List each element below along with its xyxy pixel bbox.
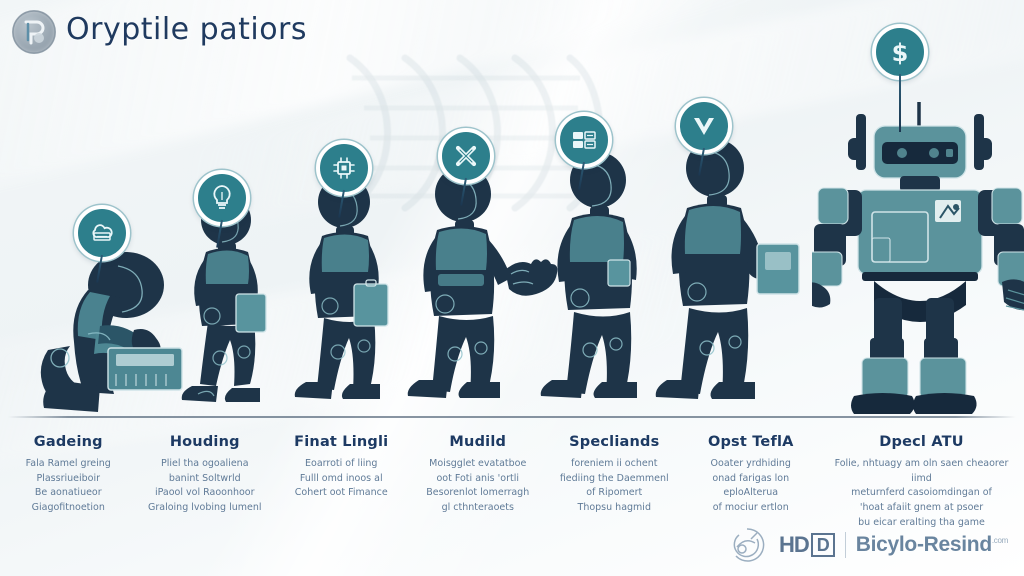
stage-bubble-cloud-server[interactable] bbox=[74, 205, 130, 261]
stage-body-line: meturnferd casoiomdingan of bbox=[825, 486, 1018, 501]
footer-wordmark-suffix: .com bbox=[992, 536, 1008, 545]
stage-title: Mudild bbox=[416, 434, 541, 450]
stage-bubble-dollar-sign[interactable]: $ bbox=[872, 24, 928, 80]
dollar-sign-icon: $ bbox=[888, 37, 912, 67]
stage-body-line: Graloing lvobing lumenl bbox=[143, 501, 268, 516]
stage-body: foreniem ii ochent fiediing the Daemmenl… bbox=[552, 457, 677, 516]
stage-title: Opst TeflA bbox=[689, 434, 814, 450]
stage-body-line: Besorenlot lomerragh bbox=[416, 486, 541, 501]
evolution-figure-row bbox=[0, 62, 1024, 420]
stage-title: Specliands bbox=[552, 434, 677, 450]
stage-body-line: fiediing the Daemmenl bbox=[552, 472, 677, 487]
stage-caption-5: Specliands foreniem ii ochent fiediing t… bbox=[546, 420, 683, 532]
circular-swirl-mark-icon bbox=[725, 525, 769, 565]
circular-badge-logo bbox=[12, 10, 56, 54]
crossed-tools-icon bbox=[452, 142, 480, 170]
stage-bubble-checkmark-v[interactable] bbox=[676, 98, 732, 154]
circuit-chip-icon bbox=[331, 155, 357, 181]
stage-figure-walking-case bbox=[288, 172, 418, 420]
stage-body-line: foreniem ii ochent bbox=[552, 457, 677, 472]
stage-body-line: Moisgglet evatatboe bbox=[416, 457, 541, 472]
bubble-tail bbox=[899, 74, 901, 132]
stage-caption-7: Dpecl ATU Folie, nhtuagy am oln saen che… bbox=[819, 420, 1024, 532]
stage-caption-6: Opst TeflA Ooater yrdhiding onad farigas… bbox=[683, 420, 820, 532]
stage-caption-1: Gadeing Fala Ramel greing Plassriueiboir… bbox=[0, 420, 137, 532]
cloud-server-icon bbox=[88, 221, 116, 245]
stage-title: Finat Lingli bbox=[279, 434, 404, 450]
robot-right-hand bbox=[1002, 279, 1024, 310]
stage-body-line: Fulll omd inoos al bbox=[279, 472, 404, 487]
page-title: Oryptile patiors bbox=[66, 12, 307, 47]
footer-hd-logo: HD D bbox=[779, 532, 835, 558]
stage-bubble-server-rack[interactable] bbox=[556, 112, 612, 168]
stage-body: Ooater yrdhiding onad farigas lon eploAl… bbox=[689, 457, 814, 516]
stage-body-line: Ooater yrdhiding bbox=[689, 457, 814, 472]
stage-body-line: banint Soltwrld bbox=[143, 472, 268, 487]
stage-figure-walking-tablet bbox=[168, 190, 298, 420]
footer-hd-label: HD bbox=[779, 532, 809, 558]
footer-wordmark: Bicylo-Resind.com bbox=[856, 533, 1008, 557]
stage-body-line: Thopsu hagmid bbox=[552, 501, 677, 516]
badge-glyph-icon bbox=[12, 10, 56, 54]
stage-body-line: Pliel tha ogoaliena bbox=[143, 457, 268, 472]
footer-hd-box: D bbox=[811, 533, 835, 557]
stage-figure-large-robot bbox=[812, 100, 1024, 420]
stage-body-line: Eoarroti of liing bbox=[279, 457, 404, 472]
header: Oryptile patiors bbox=[0, 0, 1024, 70]
svg-text:$: $ bbox=[892, 39, 909, 67]
footer-branding: HD D Bicylo-Resind.com bbox=[725, 522, 1008, 568]
stage-bubble-circuit-chip[interactable] bbox=[316, 140, 372, 196]
stage-body-line: of mociur ertlon bbox=[689, 501, 814, 516]
stage-body-line: gl cthnteraoets bbox=[416, 501, 541, 516]
footer-wordmark-text: Bicylo-Resind bbox=[856, 533, 992, 556]
stage-body-line: 'hoat afaiit gnem at psoer bbox=[825, 501, 1018, 516]
stage-title: Dpecl ATU bbox=[825, 434, 1018, 450]
server-rack-icon bbox=[570, 128, 598, 152]
infographic-canvas: Oryptile patiors bbox=[0, 0, 1024, 576]
stage-body: Fala Ramel greing Plassriueiboir Be aona… bbox=[6, 457, 131, 516]
stage-title: Gadeing bbox=[6, 434, 131, 450]
stage-body-line: Be aonatiueor bbox=[6, 486, 131, 501]
stage-captions-row: Gadeing Fala Ramel greing Plassriueiboir… bbox=[0, 420, 1024, 532]
stage-figure-carrying bbox=[655, 134, 815, 420]
stage-body: Folie, nhtuagy am oln saen cheaorer iimd… bbox=[825, 457, 1018, 531]
stage-body-line: Giagofitnoetion bbox=[6, 501, 131, 516]
stage-body-line: Cohert oot Fimance bbox=[279, 486, 404, 501]
stage-body-line: iPaool vol Raoonhoor bbox=[143, 486, 268, 501]
stage-body: Eoarroti of liing Fulll omd inoos al Coh… bbox=[279, 457, 404, 501]
stage-title: Houding bbox=[143, 434, 268, 450]
robot-chest-emblem-icon bbox=[935, 200, 961, 222]
checkmark-v-icon bbox=[690, 113, 718, 139]
stage-body-line: Folie, nhtuagy am oln saen cheaorer iimd bbox=[825, 457, 1018, 486]
stage-caption-2: Houding Pliel tha ogoaliena banint Soltw… bbox=[137, 420, 274, 532]
idea-lightbulb-icon bbox=[210, 184, 234, 212]
footer-divider bbox=[845, 532, 846, 558]
stage-body-line: Fala Ramel greing bbox=[6, 457, 131, 472]
stage-caption-3: Finat Lingli Eoarroti of liing Fulll omd… bbox=[273, 420, 410, 532]
stage-body: Moisgglet evatatboe oot Foti anis 'ortli… bbox=[416, 457, 541, 516]
stage-body: Pliel tha ogoaliena banint Soltwrld iPao… bbox=[143, 457, 268, 516]
stage-body-line: oot Foti anis 'ortli bbox=[416, 472, 541, 487]
stage-caption-4: Mudild Moisgglet evatatboe oot Foti anis… bbox=[410, 420, 547, 532]
stage-body-line: of Ripomert bbox=[552, 486, 677, 501]
stage-body-line: eploAlterua bbox=[689, 486, 814, 501]
ground-baseline bbox=[8, 416, 1016, 418]
stage-body-line: Plassriueiboir bbox=[6, 472, 131, 487]
stage-bubble-crossed-tools[interactable] bbox=[438, 128, 494, 184]
stage-body-line: onad farigas lon bbox=[689, 472, 814, 487]
stage-bubble-idea-lightbulb[interactable] bbox=[194, 170, 250, 226]
